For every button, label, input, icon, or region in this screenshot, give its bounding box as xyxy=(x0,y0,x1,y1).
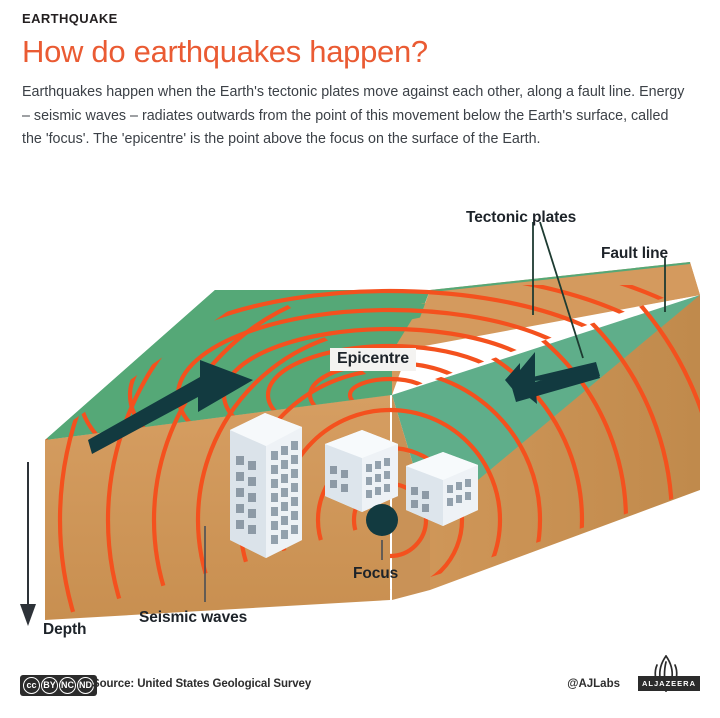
source-credit: Source: United States Geological Survey xyxy=(92,678,311,690)
infographic-page: EARTHQUAKE How do earthquakes happen? Ea… xyxy=(0,0,720,718)
depth-arrow xyxy=(20,462,36,626)
standfirst-paragraph: Earthquakes happen when the Earth's tect… xyxy=(22,81,690,150)
cc-chip-by: BY xyxy=(41,677,58,694)
page-title: How do earthquakes happen? xyxy=(22,33,698,70)
label-tectonic-plates: Tectonic plates xyxy=(466,209,576,227)
label-focus: Focus xyxy=(353,565,398,583)
aj-labs-handle: @AJLabs xyxy=(567,678,620,690)
creative-commons-badge[interactable]: cc BY NC ND xyxy=(20,675,97,696)
building-tall-tower xyxy=(230,413,302,558)
cc-chip-cc: cc xyxy=(23,677,40,694)
earthquake-diagram: Tectonic plates Fault line Epicentre Foc… xyxy=(0,190,720,650)
kicker-label: EARTHQUAKE xyxy=(22,12,698,26)
building-mid-block xyxy=(325,430,398,512)
label-epicentre: Epicentre xyxy=(330,348,416,371)
label-fault-line: Fault line xyxy=(601,245,668,263)
cc-chip-nc: NC xyxy=(59,677,76,694)
label-depth: Depth xyxy=(43,621,86,639)
mid-block-front-windows xyxy=(366,458,390,498)
label-seismic-waves: Seismic waves xyxy=(139,609,247,627)
focus-dot xyxy=(366,504,398,536)
footer: cc BY NC ND Source: United States Geolog… xyxy=(0,668,720,718)
al-jazeera-wordmark: ALJAZEERA xyxy=(638,676,700,691)
header: EARTHQUAKE How do earthquakes happen? Ea… xyxy=(22,12,698,151)
